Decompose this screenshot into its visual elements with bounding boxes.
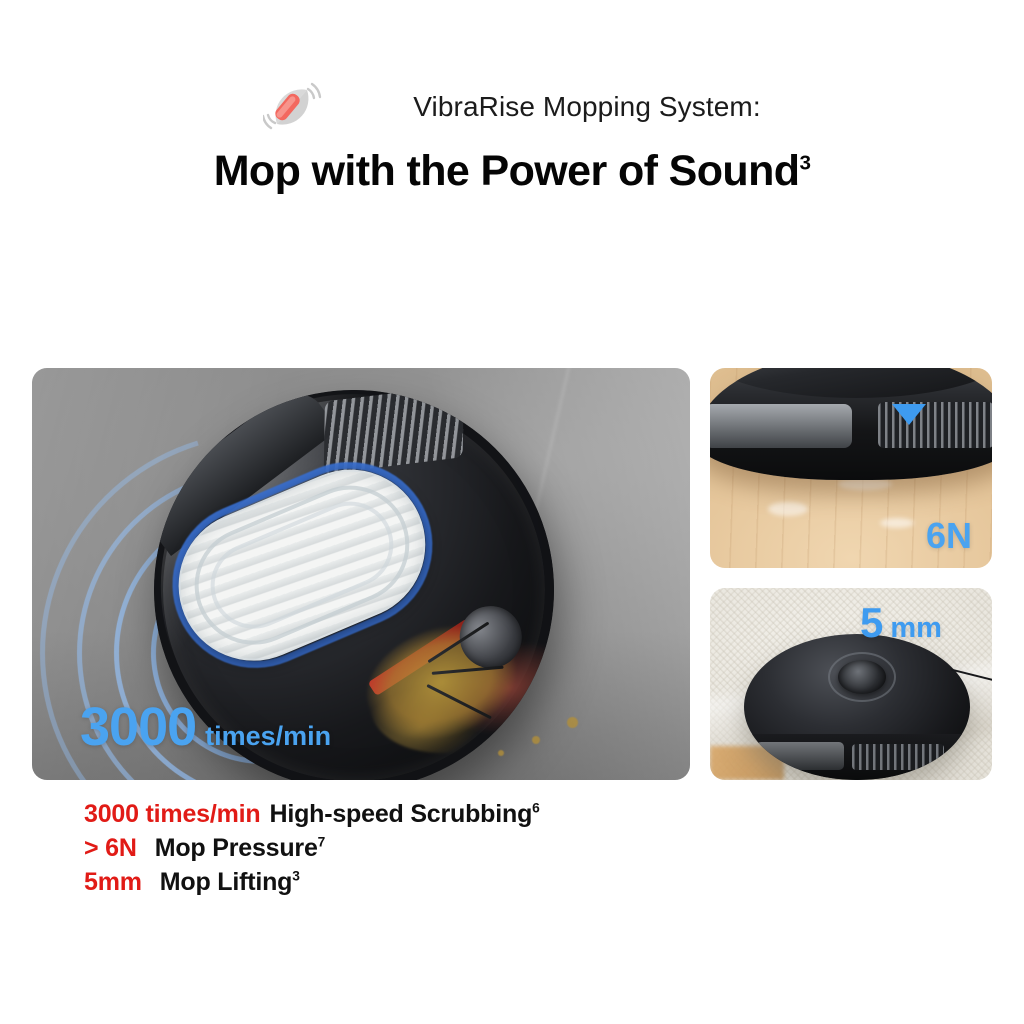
lidar-turret [838, 660, 886, 694]
image-gallery: 3000times/min 6N [32, 368, 992, 780]
spec-label: High-speed Scrubbing [269, 800, 532, 828]
mop-pressure-image: 6N [710, 368, 992, 568]
robot-top-shell [710, 368, 992, 398]
subtitle-row: VibraRise Mopping System: [0, 78, 1024, 136]
spec-row: > 6NMop Pressure7 [84, 831, 944, 865]
scrub-rate-overlay: 3000times/min [80, 700, 331, 754]
page-title: Mop with the Power of Sound3 [0, 148, 1024, 194]
main-product-image: 3000times/min [32, 368, 690, 780]
robot-water-tank [756, 742, 844, 770]
pressure-arrow-icon [892, 404, 926, 425]
spec-row: 3000 times/minHigh-speed Scrubbing6 [84, 797, 944, 831]
spec-superscript: 7 [318, 835, 325, 850]
header: VibraRise Mopping System: Mop with the P… [0, 0, 1024, 210]
spill-droplet [567, 717, 578, 728]
spec-row: 5mmMop Lifting3 [84, 865, 944, 899]
product-feature-page: VibraRise Mopping System: Mop with the P… [0, 0, 1024, 1024]
spec-label: Mop Lifting [160, 868, 292, 896]
spill-droplet [532, 736, 540, 744]
mop-lifting-value: 5 [860, 599, 883, 646]
mop-lifting-unit: mm [890, 612, 942, 644]
robot-water-tank [710, 404, 852, 448]
spill-droplet [498, 750, 504, 756]
spec-list: 3000 times/minHigh-speed Scrubbing6 > 6N… [84, 797, 944, 899]
spec-value: 3000 times/min [84, 800, 260, 828]
headline-text: Mop with the Power of Sound [214, 147, 800, 195]
mop-lifting-image: 5mm [710, 588, 992, 780]
subtitle: VibraRise Mopping System: [413, 93, 760, 121]
scrub-rate-value: 3000 [80, 697, 196, 757]
dust-patch [768, 502, 808, 516]
spec-value: > 6N [84, 834, 137, 862]
dust-patch [880, 518, 914, 528]
spec-value: 5mm [84, 868, 142, 896]
mop-lifting-overlay: 5mm [860, 602, 942, 644]
scrub-rate-unit: times/min [205, 721, 331, 751]
vibrarise-mop-sound-icon [263, 78, 325, 136]
robot-vacuum-top-view [744, 634, 970, 780]
robot-vent-grille [852, 744, 944, 770]
headline-superscript: 3 [799, 152, 810, 175]
mop-pressure-overlay: 6N [926, 518, 972, 554]
spec-superscript: 6 [532, 801, 539, 816]
spec-superscript: 3 [292, 869, 299, 884]
robot-vacuum-side-view [710, 368, 992, 480]
spec-label: Mop Pressure [155, 834, 318, 862]
